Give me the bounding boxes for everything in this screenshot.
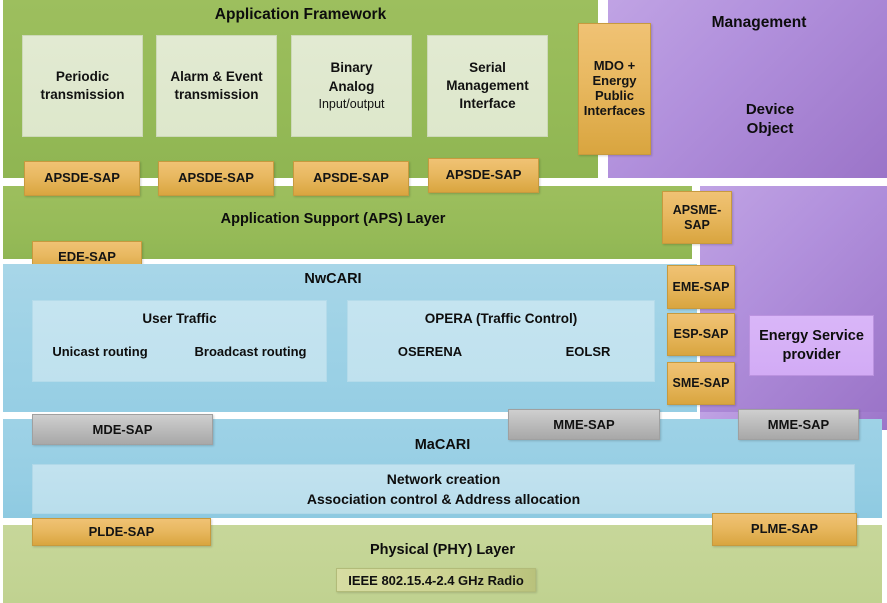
app-box-line1: Serial — [469, 59, 506, 77]
apsme-line1: APSME- — [673, 203, 722, 217]
app-box-line1: Alarm & Event — [170, 68, 262, 86]
app-box-line2: transmission — [40, 86, 124, 104]
macari-network-creation-box[interactable]: Network creation Association control & A… — [32, 464, 855, 514]
app-box-line3: Interface — [459, 95, 515, 113]
app-box-serial-management-interface[interactable]: Serial Management Interface — [427, 35, 548, 137]
opera-oserena: OSERENA — [360, 344, 500, 359]
sap-apsde-1[interactable]: APSDE-SAP — [24, 161, 140, 196]
mdo-line1: MDO + — [594, 59, 636, 74]
esp-line2: provider — [782, 346, 840, 365]
opera-eolsr: EOLSR — [528, 344, 648, 359]
nwcari-user-traffic-box[interactable]: User Traffic Unicast routing Broadcast r… — [32, 300, 327, 382]
sap-plde[interactable]: PLDE-SAP — [32, 518, 211, 546]
apsme-line2: SAP — [684, 218, 710, 232]
sap-plme[interactable]: PLME-SAP — [712, 513, 857, 546]
mdo-line2: Energy — [592, 74, 636, 89]
aps-layer-title: Application Support (APS) Layer — [3, 211, 663, 227]
nwcari-title: NwCARI — [3, 271, 663, 287]
user-traffic-title: User Traffic — [33, 311, 326, 326]
energy-service-provider-box[interactable]: Energy Service provider — [749, 315, 874, 376]
ieee-radio-box: IEEE 802.15.4-2.4 GHz Radio — [336, 568, 536, 592]
app-box-line1: Binary — [330, 59, 372, 77]
application-framework-title: Application Framework — [3, 6, 598, 24]
management-title: Management — [630, 14, 887, 32]
network-creation-line2: Association control & Address allocation — [307, 489, 580, 509]
sap-apsde-2[interactable]: APSDE-SAP — [158, 161, 274, 196]
app-box-line2: Management — [446, 77, 529, 95]
app-box-line2: transmission — [174, 86, 258, 104]
sap-apsde-4[interactable]: APSDE-SAP — [428, 158, 539, 193]
sap-eme[interactable]: EME-SAP — [667, 265, 735, 309]
mdo-line4: Interfaces — [584, 104, 645, 119]
device-object-label: Device Object — [700, 94, 840, 144]
esp-line1: Energy Service — [759, 327, 864, 346]
sap-mme-nwcari[interactable]: MME-SAP — [508, 409, 660, 440]
app-box-line2: Analog — [329, 78, 375, 96]
user-traffic-unicast: Unicast routing — [35, 344, 165, 359]
app-box-binary-analog-io[interactable]: Binary Analog Input/output — [291, 35, 412, 137]
nwcari-opera-box[interactable]: OPERA (Traffic Control) OSERENA EOLSR — [347, 300, 655, 382]
device-object-line1: Device — [746, 100, 794, 120]
sap-sme[interactable]: SME-SAP — [667, 362, 735, 405]
user-traffic-broadcast: Broadcast routing — [178, 344, 323, 359]
sap-apsde-3[interactable]: APSDE-SAP — [293, 161, 409, 196]
app-box-line1: Periodic — [56, 68, 109, 86]
sap-mdo-energy-public-interfaces[interactable]: MDO + Energy Public Interfaces — [578, 23, 651, 155]
app-box-alarm-event-transmission[interactable]: Alarm & Event transmission — [156, 35, 277, 137]
opera-title: OPERA (Traffic Control) — [348, 311, 654, 326]
sap-mme-management[interactable]: MME-SAP — [738, 409, 859, 440]
network-creation-line1: Network creation — [387, 469, 501, 489]
sap-esp[interactable]: ESP-SAP — [667, 313, 735, 356]
app-box-line3: Input/output — [318, 96, 384, 113]
protocol-stack-diagram: Management Device Object Application Fra… — [0, 0, 887, 603]
sap-mde[interactable]: MDE-SAP — [32, 414, 213, 445]
app-box-periodic-transmission[interactable]: Periodic transmission — [22, 35, 143, 137]
sap-apsme[interactable]: APSME- SAP — [662, 191, 732, 244]
device-object-line2: Object — [747, 119, 794, 139]
mdo-line3: Public — [595, 89, 634, 104]
